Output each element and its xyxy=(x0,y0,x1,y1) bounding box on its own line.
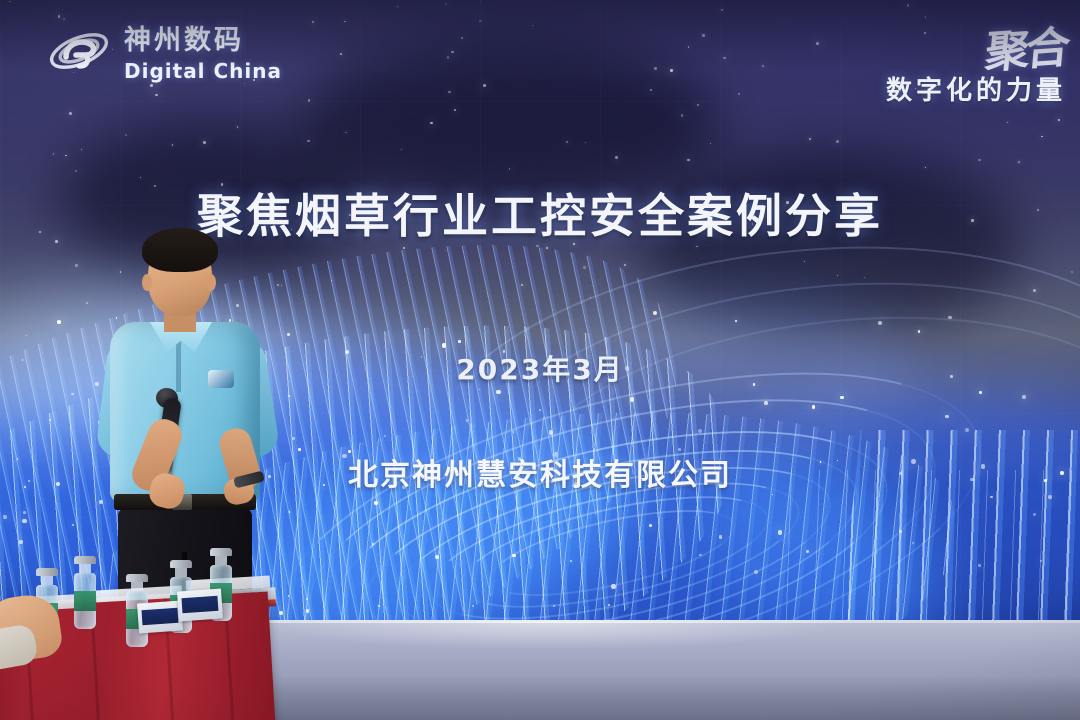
bottle-cap xyxy=(126,574,148,582)
presenter-hair xyxy=(142,228,218,272)
bottle-cap xyxy=(210,548,232,556)
bottle-neck xyxy=(79,564,91,573)
bottle-neck xyxy=(41,576,53,585)
screenshot-root: 神州数码 Digital China 聚合 数字化的力量 聚焦烟草行业工控安全案… xyxy=(0,0,1080,720)
bottle-neck xyxy=(175,568,187,577)
water-bottle xyxy=(74,556,96,629)
bottle-body xyxy=(74,573,96,629)
name-card-text-block xyxy=(141,608,178,625)
bottle-cap xyxy=(170,560,192,568)
stage-floor-glow xyxy=(200,622,900,662)
name-card xyxy=(177,589,223,622)
presenter-ear xyxy=(142,274,152,291)
shirt-chest-logo-icon xyxy=(208,370,234,388)
bottle-neck xyxy=(131,582,143,591)
bottle-cap xyxy=(74,556,96,564)
presenter-ear xyxy=(206,274,216,291)
bottle-label xyxy=(74,591,96,611)
name-card xyxy=(137,601,183,634)
name-card-text-block xyxy=(181,596,218,613)
bottle-cap xyxy=(36,568,58,576)
bottle-neck xyxy=(215,556,227,565)
shirt-placket xyxy=(176,338,181,392)
